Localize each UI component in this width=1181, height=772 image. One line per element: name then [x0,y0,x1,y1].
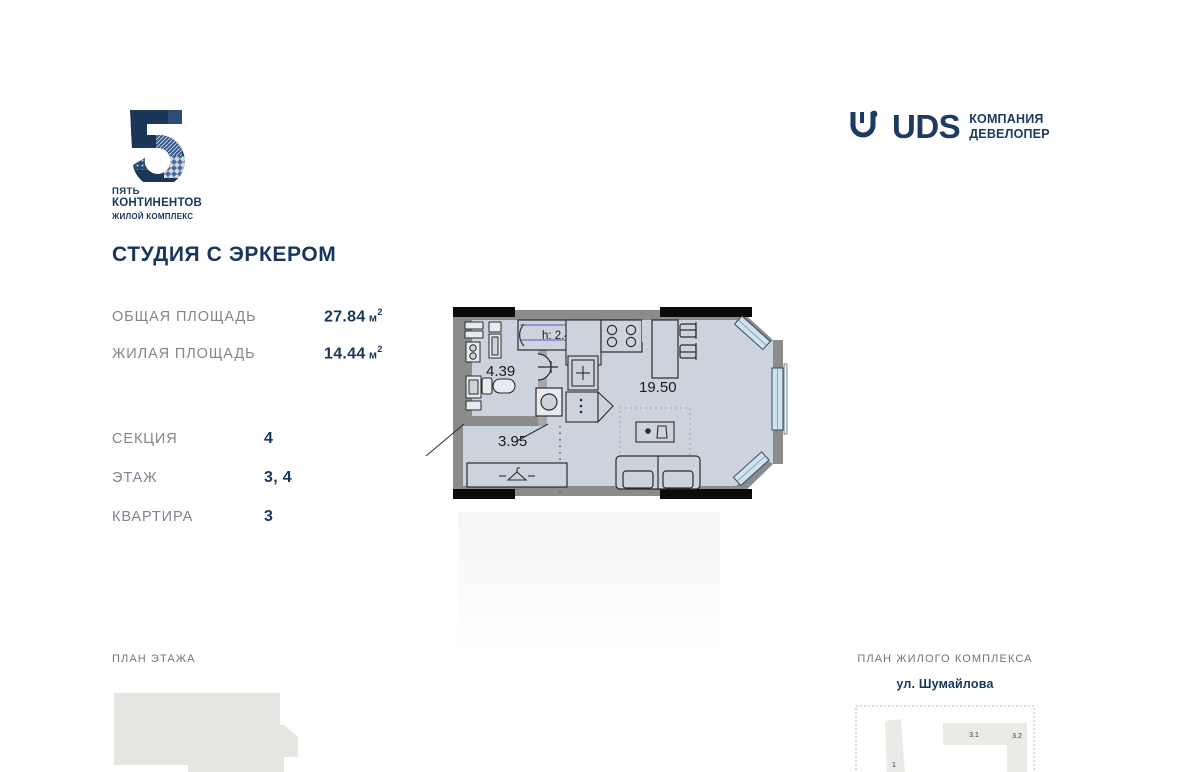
complex-plan-section: ПЛАН ЖИЛОГО КОМПЛЕКСА ул. Шумайлова 1 3.… [845,653,1045,772]
complex-logo: ПЯТЬ КОНТИНЕНТОВ ЖИЛОЙ КОМПЛЕКС [112,108,242,204]
complex-block-label-31: 3.1 [969,732,979,739]
meta-row-floor: ЭТАЖ 3, 4 [112,469,292,508]
floor-plan-section: ПЛАН ЭТАЖА [112,653,352,772]
complex-plan-minimap[interactable]: 1 3.1 3.2 [855,705,1035,772]
floor-plan-minimap[interactable] [112,679,352,772]
complex-plan-title: ПЛАН ЖИЛОГО КОМПЛЕКСА [845,653,1045,665]
spec-value-living-area: 14.44 м2 [324,344,383,363]
complex-block-label-1: 1 [892,762,896,769]
spec-row-total-area: ОБЩАЯ ПЛОЩАДЬ 27.84 м2 [112,307,383,344]
area-label-hallway: 3.95 [498,433,527,450]
complex-logo-caption: ПЯТЬ КОНТИНЕНТОВ ЖИЛОЙ КОМПЛЕКС [112,186,242,221]
uds-tagline-line-1: КОМПАНИЯ [969,112,1050,127]
apartment-floor-plan: h: 2.46 ° 4.39 [420,296,850,666]
meta-label-apartment: КВАРТИРА [112,509,264,525]
spec-row-living-area: ЖИЛАЯ ПЛОЩАДЬ 14.44 м2 [112,344,383,381]
bay-window-center [772,364,787,434]
meta-label-floor: ЭТАЖ [112,470,264,486]
toilet-fixture [482,378,515,394]
tv-console [636,422,674,442]
floor-plan-page: ПЯТЬ КОНТИНЕНТОВ ЖИЛОЙ КОМПЛЕКС UDS КОМП… [0,0,1181,772]
meta-row-section: СЕКЦИЯ 4 [112,430,292,469]
floor-plan-title: ПЛАН ЭТАЖА [112,653,352,665]
street-name: ул. Шумайлова [845,677,1045,691]
complex-block-label-32: 3.2 [1012,733,1022,740]
spec-value-total-area: 27.84 м2 [324,307,383,326]
developer-logo: UDS КОМПАНИЯ ДЕВЕЛОПЕР [849,108,1050,145]
floor-block-lower [188,725,298,772]
spec-label-total-area: ОБЩАЯ ПЛОЩАДЬ [112,309,324,325]
wardrobe [467,463,567,487]
uds-tagline: КОМПАНИЯ ДЕВЕЛОПЕР [969,112,1050,142]
uds-wordmark: UDS [892,110,960,143]
logo-line-1: ПЯТЬ [112,186,242,197]
meta-value-apartment: 3 [264,508,273,526]
logo-line-3: ЖИЛОЙ КОМПЛЕКС [112,212,242,221]
washing-machine [536,388,562,416]
meta-value-floor: 3, 4 [264,469,292,487]
area-specs: ОБЩАЯ ПЛОЩАДЬ 27.84 м2 ЖИЛАЯ ПЛОЩАДЬ 14.… [112,307,383,381]
meta-row-apartment: КВАРТИРА 3 [112,508,292,547]
sofa [616,456,700,489]
chair [680,343,696,360]
uds-emblem-icon [849,108,883,145]
chair [680,322,696,339]
spec-label-living-area: ЖИЛАЯ ПЛОЩАДЬ [112,346,324,362]
unit-meta: СЕКЦИЯ 4 ЭТАЖ 3, 4 КВАРТИРА 3 [112,430,292,547]
complex-block-32 [1005,723,1027,772]
uds-tagline-line-2: ДЕВЕЛОПЕР [969,127,1050,142]
area-label-living-kitchen: 19.50 [639,379,677,396]
logo-five-icon [120,108,204,182]
meta-value-section: 4 [264,430,273,448]
page-title: СТУДИЯ С ЭРКЕРОМ [112,243,336,267]
meta-label-section: СЕКЦИЯ [112,431,264,447]
logo-line-2: КОНТИНЕНТОВ [112,197,242,211]
plan-drawing: h: 2.46 ° 4.39 [420,296,850,536]
area-label-bathroom: 4.39 [486,363,515,380]
